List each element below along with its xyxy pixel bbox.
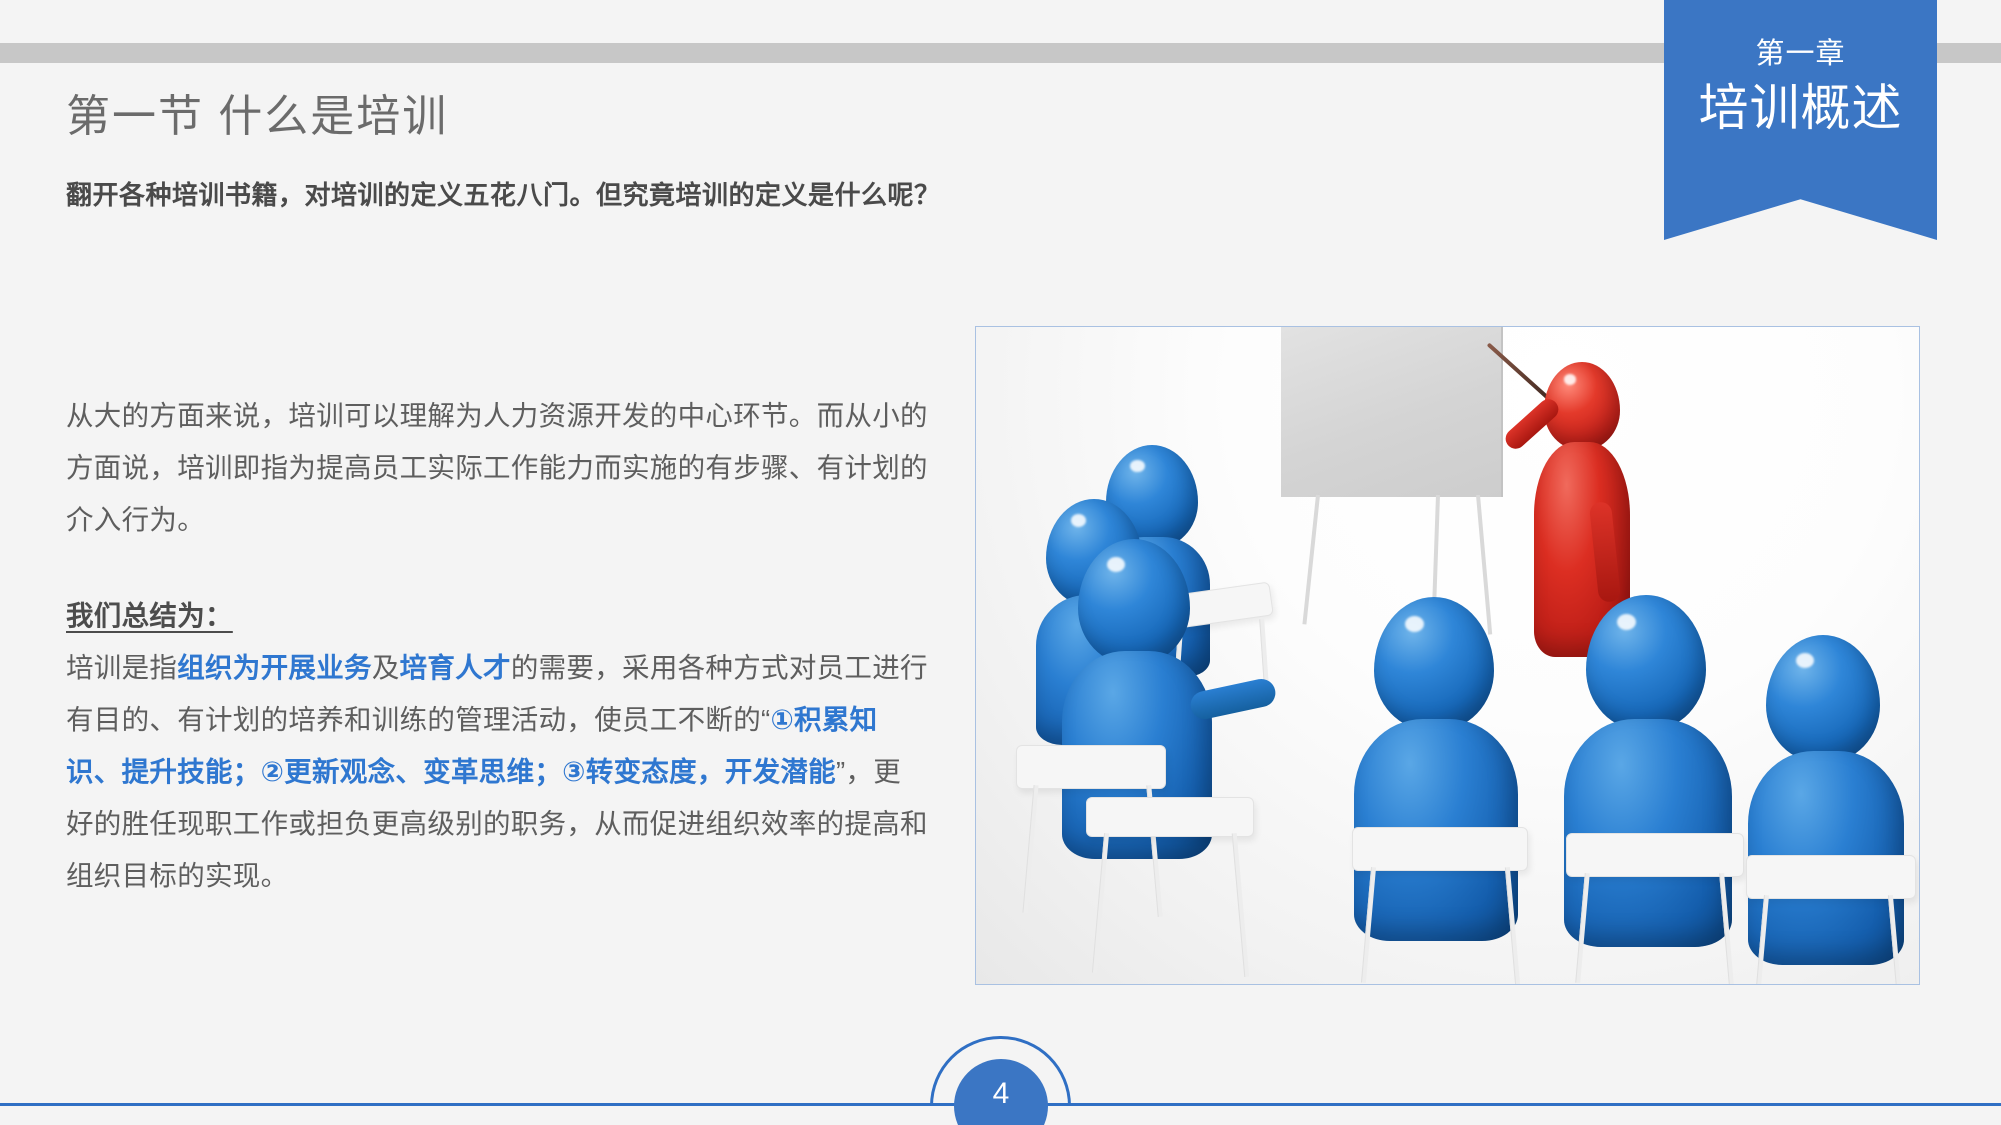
figure-head xyxy=(1586,595,1706,731)
training-photo-frame xyxy=(975,326,1920,985)
chair xyxy=(1352,827,1528,871)
summary-highlight-1: 组织为开展业务 xyxy=(177,652,372,683)
training-photo xyxy=(976,327,1919,984)
chair xyxy=(1566,833,1744,877)
chapter-ribbon: 第一章 培训概述 xyxy=(1664,0,1937,240)
figure-head xyxy=(1766,635,1880,763)
chair-leg xyxy=(1022,785,1038,913)
footer-rule-right xyxy=(1038,1103,2001,1106)
paragraph-definition: 从大的方面来说，培训可以理解为人力资源开发的中心环节。而从小的方面说，培训即指为… xyxy=(66,390,928,546)
lead-label-wrap: 我们总结为： xyxy=(66,590,928,642)
chair-leg xyxy=(1232,833,1250,977)
slide-canvas: 第一章 培训概述 第一节 什么是培训 翻开各种培训书籍，对培训的定义五花八门。但… xyxy=(0,0,2001,1125)
whiteboard-leg xyxy=(1302,495,1320,625)
page-title: 第一节 什么是培训 xyxy=(66,80,448,144)
chapter-label: 第一章 xyxy=(1664,36,1937,72)
chapter-title: 培训概述 xyxy=(1664,78,1937,138)
chair xyxy=(1746,855,1916,899)
figure-head xyxy=(1078,539,1190,665)
paragraph-summary: 培训是指组织为开展业务及培育人才的需要，采用各种方式对员工进行有目的、有计划的培… xyxy=(66,642,928,902)
summary-seg-1: 培训是指 xyxy=(66,652,177,683)
chair xyxy=(1086,797,1254,837)
figure-head xyxy=(1374,597,1494,731)
page-subtitle: 翻开各种培训书籍，对培训的定义五花八门。但究竟培训的定义是什么呢？ xyxy=(66,175,941,212)
whiteboard-icon xyxy=(1281,327,1503,497)
lead-label: 我们总结为： xyxy=(66,590,233,642)
summary-highlight-2: 培育人才 xyxy=(400,652,511,683)
whiteboard-leg xyxy=(1476,495,1492,635)
summary-seg-2: 及 xyxy=(372,652,400,683)
chair xyxy=(1016,745,1166,789)
paragraph-spacer xyxy=(66,546,928,590)
body-text-column: 从大的方面来说，培训可以理解为人力资源开发的中心环节。而从小的方面说，培训即指为… xyxy=(66,390,928,902)
footer-rule-left xyxy=(0,1103,963,1106)
